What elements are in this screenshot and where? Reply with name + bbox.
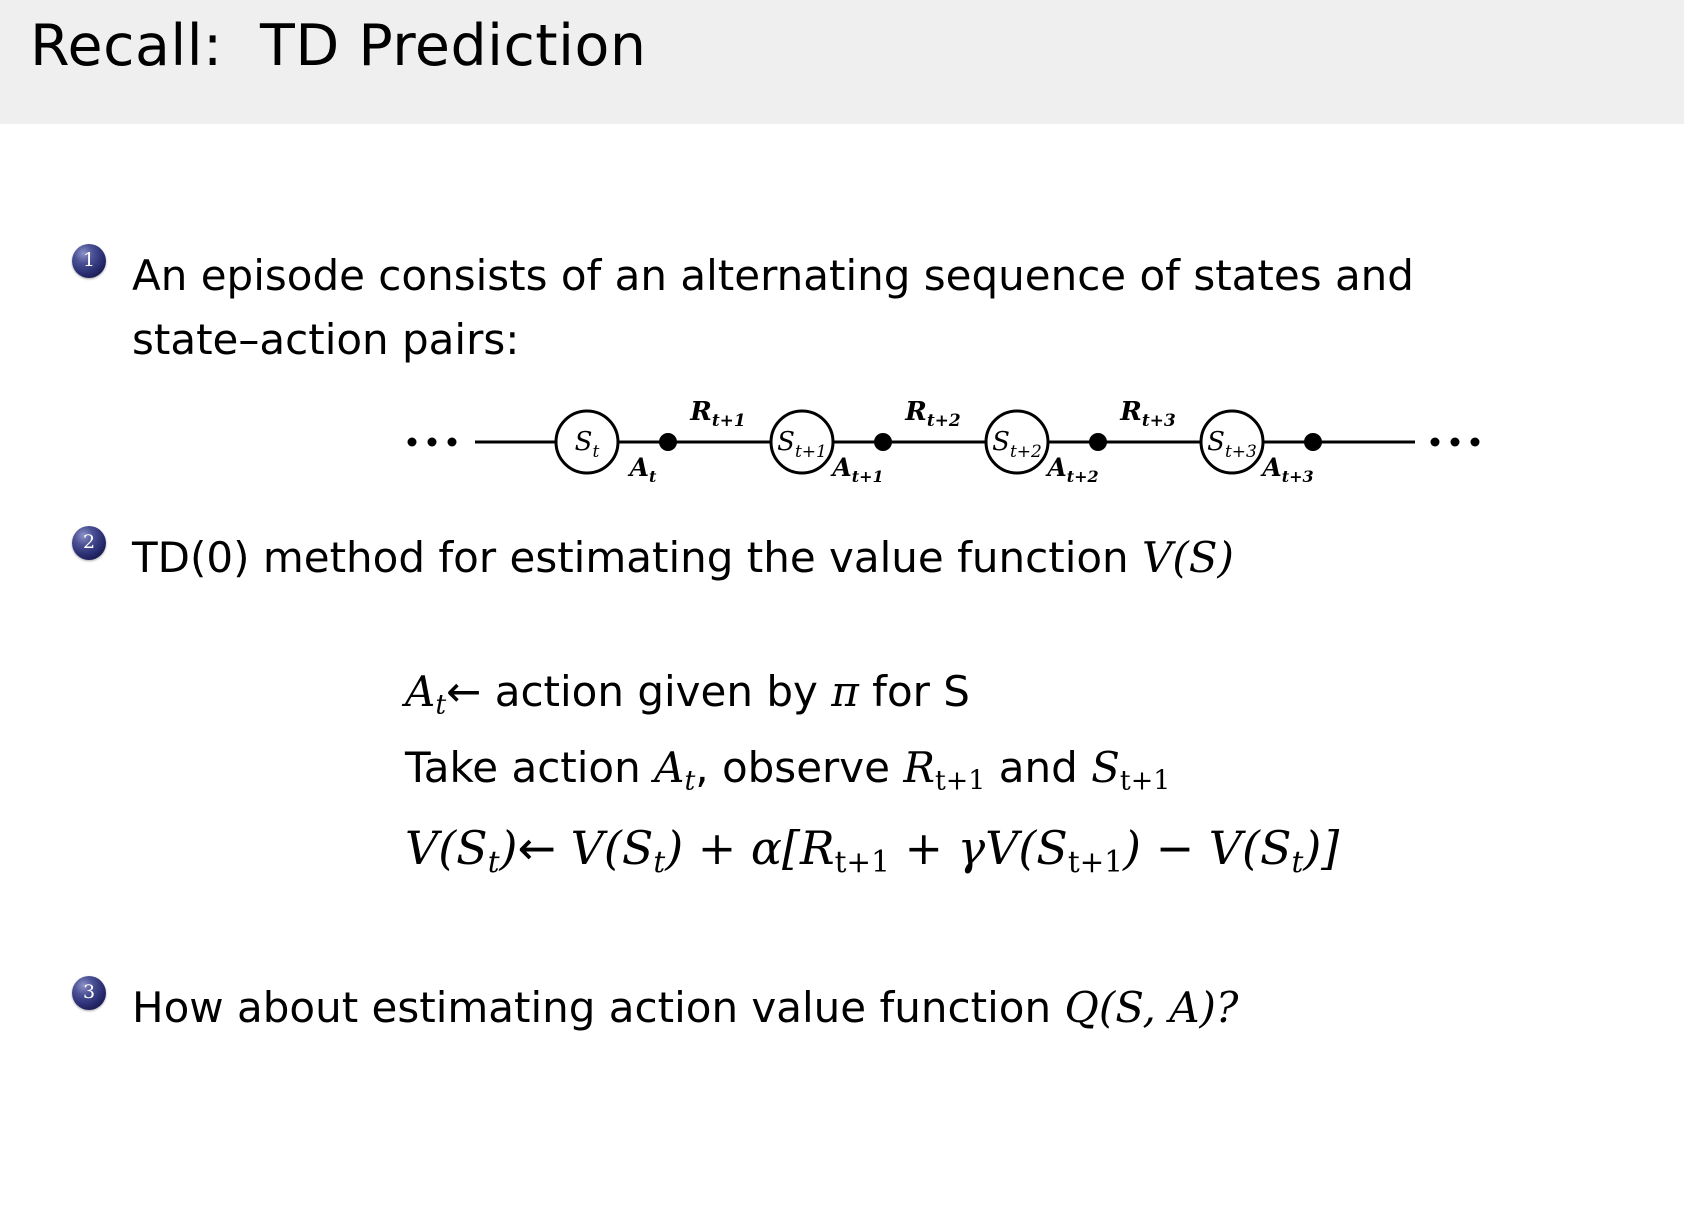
algorithm-line-3: V(St)← V(St) + α[Rt+1 + γV(St+1) − V(St)… xyxy=(405,807,1605,891)
action-node-0 xyxy=(659,433,677,451)
algo2-state-sub: t+1 xyxy=(1120,766,1170,797)
slide-body: 1 An episode consists of an alternating … xyxy=(0,124,1684,1230)
bullet-3-math: Q(S, A)? xyxy=(1064,983,1238,1032)
algo2-action: A xyxy=(654,743,684,792)
algo1-pi: π xyxy=(831,667,859,716)
action-label-3: At+3 xyxy=(1260,453,1313,486)
algo3-minus: − xyxy=(1156,821,1195,875)
bullet-number-1: 1 xyxy=(83,251,95,270)
action-node-3 xyxy=(1304,433,1322,451)
bullet-marker-2: 2 xyxy=(72,526,106,560)
algo1-var: A xyxy=(405,667,435,716)
algo1-arrow: ← xyxy=(446,667,481,716)
algo1-var-sub: t xyxy=(435,690,446,721)
bullet-marker-3: 3 xyxy=(72,976,106,1010)
bullet-number-2: 2 xyxy=(83,533,95,552)
action-node-1 xyxy=(874,433,892,451)
bullet-text-2: TD(0) method for estimating the value fu… xyxy=(132,526,1234,590)
algo3-arrow: ← xyxy=(517,821,556,875)
mdp-trajectory-diagram: St St+1 St+2 St+3 Rt+1 Rt+2 Rt+3 At At+1… xyxy=(400,384,1500,494)
bullet-text-3: How about estimating action value functi… xyxy=(132,976,1238,1040)
algo2-state: S xyxy=(1091,743,1120,792)
bullet-item-3: 3 How about estimating action value func… xyxy=(72,976,1522,1040)
bullet-item-2: 2 TD(0) method for estimating the value … xyxy=(72,526,1522,590)
bullet-text-1: An episode consists of an alternating se… xyxy=(132,244,1522,372)
action-label-0: At xyxy=(628,453,657,486)
slide-header: Recall: TD Prediction xyxy=(0,0,1684,124)
algo3-gamma: γ xyxy=(958,821,986,875)
algorithm-line-1: At← action given by π for S xyxy=(405,654,1605,730)
leading-ellipsis-icon xyxy=(408,438,457,447)
bullet-2-math: V(S) xyxy=(1142,533,1234,582)
page-title: Recall: TD Prediction xyxy=(30,18,647,75)
algo1-tail: for S xyxy=(859,667,970,716)
algorithm-line-2: Take action At, observe Rt+1 and St+1 xyxy=(405,730,1605,806)
reward-label-0: Rt+1 xyxy=(689,397,746,431)
algo2-conj: and xyxy=(985,743,1091,792)
reward-label-2: Rt+3 xyxy=(1119,397,1176,431)
bullet-2-prefix: TD(0) method for estimating the value fu… xyxy=(132,533,1142,582)
algo2-mid: , observe xyxy=(695,743,903,792)
bullet-number-3: 3 xyxy=(83,983,95,1002)
algo2-action-sub: t xyxy=(684,766,695,797)
bullet-3-prefix: How about estimating action value functi… xyxy=(132,983,1064,1032)
action-label-2: At+2 xyxy=(1045,453,1098,486)
bullet-item-1: 1 An episode consists of an alternating … xyxy=(72,244,1522,372)
algo1-rest: action given by xyxy=(481,667,831,716)
algo3-alpha: α xyxy=(751,821,782,875)
bullet-marker-1: 1 xyxy=(72,244,106,278)
trailing-ellipsis-icon xyxy=(1431,438,1480,447)
algo2-reward: R xyxy=(903,743,935,792)
action-node-2 xyxy=(1089,433,1107,451)
algo2-lead: Take action xyxy=(405,743,654,792)
action-label-1: At+1 xyxy=(830,453,883,486)
reward-label-1: Rt+2 xyxy=(904,397,961,431)
td-zero-algorithm-block: At← action given by π for S Take action … xyxy=(405,654,1605,891)
algo2-reward-sub: t+1 xyxy=(935,766,985,797)
